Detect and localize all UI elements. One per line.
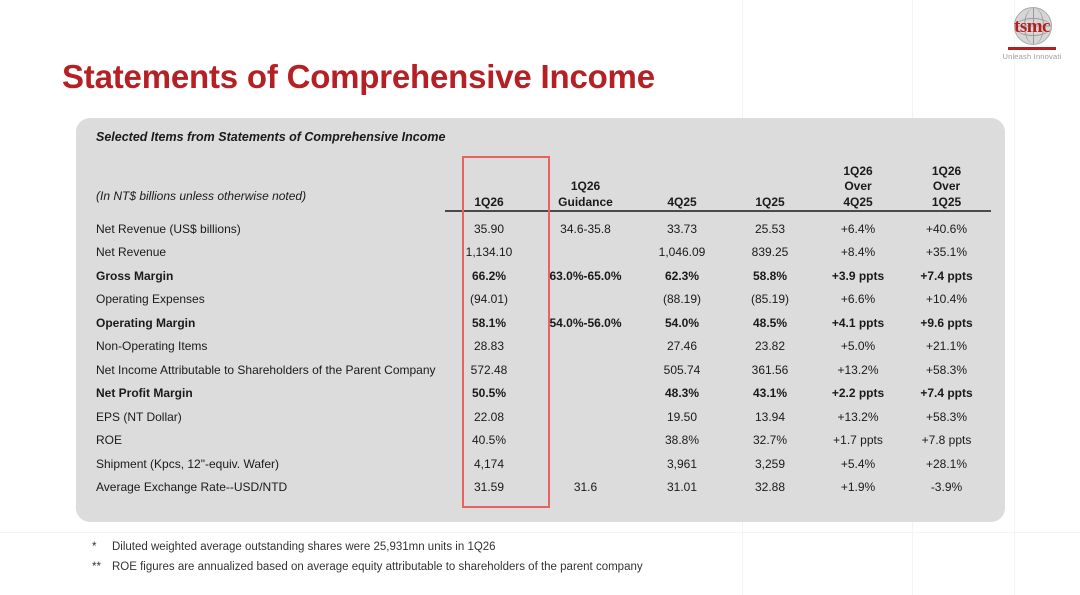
footnote-text: ROE figures are annualized based on aver… [112,561,643,573]
cell-1q25: 43.1% [726,377,814,401]
cell-o1q25: +58.3% [902,400,991,424]
cell-guid: 31.6 [533,471,638,495]
cell-1q25: 839.25 [726,236,814,260]
column-header-label [90,148,445,211]
cell-o4q25: +8.4% [814,236,902,260]
cell-o4q25: +4.1 ppts [814,306,902,330]
cell-4q25: (88.19) [638,283,726,307]
cell-1q26: 4,174 [445,447,533,471]
row-label: Average Exchange Rate--USD/NTD [90,471,445,495]
column-header-line: 1Q26 [533,179,638,194]
cell-o4q25: +1.7 ppts [814,424,902,448]
cell-o4q25: +2.2 ppts [814,377,902,401]
panel-subtitle: Selected Items from Statements of Compre… [96,130,445,144]
logo-tagline: Unleash Innovati [984,52,1080,61]
column-header-line: 1Q26 [902,164,991,179]
cell-1q26: 22.08 [445,400,533,424]
cell-guid [533,377,638,401]
footnotes: *Diluted weighted average outstanding sh… [92,538,643,578]
cell-o4q25: +1.9% [814,471,902,495]
row-label: Operating Margin [90,306,445,330]
cell-o1q25: +7.4 ppts [902,377,991,401]
column-header-line: 4Q25 [638,195,726,210]
cell-guid [533,283,638,307]
cell-1q26: 31.59 [445,471,533,495]
tsmc-logo-mark: tsmc [1005,6,1059,46]
cell-guid [533,236,638,260]
table-header-row: 1Q261Q26Guidance4Q251Q251Q26Over4Q251Q26… [90,148,991,211]
cell-o1q25: +40.6% [902,211,991,236]
row-label: Shipment (Kpcs, 12"-equiv. Wafer) [90,447,445,471]
column-header-line: 1Q26 [445,195,533,210]
column-header-1q26: 1Q26 [445,148,533,211]
column-header-line: 4Q25 [814,195,902,210]
table-row: Average Exchange Rate--USD/NTD31.5931.63… [90,471,991,495]
table-row: Net Profit Margin50.5%48.3%43.1%+2.2 ppt… [90,377,991,401]
column-header-line: Over [902,179,991,194]
cell-1q25: 25.53 [726,211,814,236]
cell-guid [533,400,638,424]
cell-guid [533,424,638,448]
table-row: Net Income Attributable to Shareholders … [90,353,991,377]
cell-4q25: 33.73 [638,211,726,236]
column-header-line: Over [814,179,902,194]
table-body: Net Revenue (US$ billions)35.9034.6-35.8… [90,211,991,494]
cell-o4q25: +6.4% [814,211,902,236]
logo-rule [1008,47,1056,50]
cell-1q25: 32.7% [726,424,814,448]
table-row: Operating Expenses(94.01)(88.19)(85.19)+… [90,283,991,307]
row-label: Gross Margin [90,259,445,283]
cell-guid [533,330,638,354]
cell-1q25: 32.88 [726,471,814,495]
financial-table-panel: Selected Items from Statements of Compre… [76,118,1005,522]
cell-1q26: 40.5% [445,424,533,448]
cell-4q25: 19.50 [638,400,726,424]
cell-1q25: 3,259 [726,447,814,471]
table-row: Net Revenue (US$ billions)35.9034.6-35.8… [90,211,991,236]
cell-4q25: 62.3% [638,259,726,283]
cell-4q25: 505.74 [638,353,726,377]
tsmc-wordmark: tsmc [1005,17,1059,36]
table-row: EPS (NT Dollar)22.0819.5013.94+13.2%+58.… [90,400,991,424]
cell-1q26: 58.1% [445,306,533,330]
cell-o4q25: +6.6% [814,283,902,307]
cell-o1q25: +9.6 ppts [902,306,991,330]
cell-o1q25: -3.9% [902,471,991,495]
cell-4q25: 3,961 [638,447,726,471]
table-row: ROE40.5%38.8%32.7%+1.7 ppts+7.8 ppts [90,424,991,448]
column-header-line: 1Q25 [902,195,991,210]
cell-o1q25: +7.8 ppts [902,424,991,448]
table-row: Shipment (Kpcs, 12"-equiv. Wafer)4,1743,… [90,447,991,471]
footnote-marker: ** [92,558,112,578]
column-header-guid: 1Q26Guidance [533,148,638,211]
cell-guid: 63.0%-65.0% [533,259,638,283]
cell-o1q25: +21.1% [902,330,991,354]
table-row: Operating Margin58.1%54.0%-56.0%54.0%48.… [90,306,991,330]
cell-o1q25: +28.1% [902,447,991,471]
cell-4q25: 1,046.09 [638,236,726,260]
cell-1q26: 28.83 [445,330,533,354]
cell-o4q25: +5.4% [814,447,902,471]
comprehensive-income-table: 1Q261Q26Guidance4Q251Q251Q26Over4Q251Q26… [90,148,991,494]
column-header-line: 1Q26 [814,164,902,179]
row-label: ROE [90,424,445,448]
cell-1q25: 361.56 [726,353,814,377]
table-row: Gross Margin66.2%63.0%-65.0%62.3%58.8%+3… [90,259,991,283]
row-label: Non-Operating Items [90,330,445,354]
row-label: Net Income Attributable to Shareholders … [90,353,445,377]
column-header-4q25: 4Q25 [638,148,726,211]
cell-4q25: 27.46 [638,330,726,354]
cell-1q25: (85.19) [726,283,814,307]
cell-1q26: 572.48 [445,353,533,377]
cell-guid [533,447,638,471]
footnote: *Diluted weighted average outstanding sh… [92,538,643,558]
cell-1q26: 66.2% [445,259,533,283]
cell-4q25: 54.0% [638,306,726,330]
cell-1q26: 1,134.10 [445,236,533,260]
cell-guid [533,353,638,377]
table-row: Non-Operating Items28.8327.4623.82+5.0%+… [90,330,991,354]
cell-o4q25: +13.2% [814,353,902,377]
cell-1q25: 13.94 [726,400,814,424]
cell-o1q25: +35.1% [902,236,991,260]
cell-1q25: 23.82 [726,330,814,354]
cell-o1q25: +58.3% [902,353,991,377]
table-header: 1Q261Q26Guidance4Q251Q251Q26Over4Q251Q26… [90,148,991,211]
cell-o4q25: +3.9 ppts [814,259,902,283]
row-label: Net Revenue (US$ billions) [90,211,445,236]
tsmc-logo: tsmc Unleash Innovati [984,6,1080,61]
cell-guid: 54.0%-56.0% [533,306,638,330]
row-label: Operating Expenses [90,283,445,307]
cell-1q26: 50.5% [445,377,533,401]
footnote-text: Diluted weighted average outstanding sha… [112,541,496,553]
cell-o4q25: +5.0% [814,330,902,354]
footnote-marker: * [92,538,112,558]
column-header-o1q25: 1Q26Over1Q25 [902,148,991,211]
cell-guid: 34.6-35.8 [533,211,638,236]
row-label: Net Revenue [90,236,445,260]
cell-4q25: 38.8% [638,424,726,448]
cell-1q25: 48.5% [726,306,814,330]
cell-o4q25: +13.2% [814,400,902,424]
cell-4q25: 31.01 [638,471,726,495]
row-label: Net Profit Margin [90,377,445,401]
column-header-line: Guidance [533,195,638,210]
cell-4q25: 48.3% [638,377,726,401]
footnote: **ROE figures are annualized based on av… [92,558,643,578]
cell-o1q25: +10.4% [902,283,991,307]
page-title: Statements of Comprehensive Income [62,58,655,96]
cell-1q25: 58.8% [726,259,814,283]
cell-o1q25: +7.4 ppts [902,259,991,283]
table-row: Net Revenue1,134.101,046.09839.25+8.4%+3… [90,236,991,260]
cell-1q26: (94.01) [445,283,533,307]
cell-1q26: 35.90 [445,211,533,236]
row-label: EPS (NT Dollar) [90,400,445,424]
column-header-o4q25: 1Q26Over4Q25 [814,148,902,211]
column-header-line: 1Q25 [726,195,814,210]
column-header-1q25: 1Q25 [726,148,814,211]
